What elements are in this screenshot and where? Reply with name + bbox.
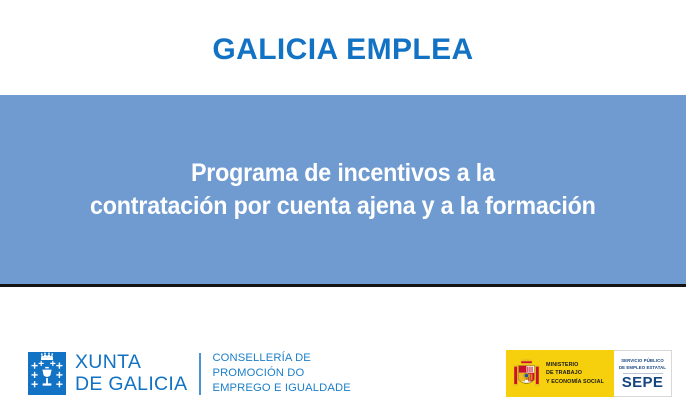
ministerio-text: MINISTERIO DE TRABAJO Y ECONOMÍA SOCIAL: [546, 361, 604, 385]
banner-text-line-2: contratación por cuenta ajena y a la for…: [90, 190, 596, 223]
conselleria-line-2: PROMOCIÓN DO: [212, 366, 350, 381]
sepe-wordmark: SEPE: [622, 375, 664, 390]
ministerio-logo: MINISTERIO DE TRABAJO Y ECONOMÍA SOCIAL: [506, 350, 614, 397]
title-zone: GALICIA EMPLEA: [0, 0, 686, 95]
xunta-wordmark-line-2: DE GALICIA: [75, 374, 187, 396]
sepe-subtitle: SERVICIO PÚBLICO DE EMPLEO ESTATAL: [619, 358, 666, 370]
xunta-wordmark: XUNTA DE GALICIA: [75, 352, 187, 396]
sepe-logo: SERVICIO PÚBLICO DE EMPLEO ESTATAL SEPE: [614, 350, 672, 397]
ministry-sepe-logos: MINISTERIO DE TRABAJO Y ECONOMÍA SOCIAL …: [506, 350, 672, 397]
program-banner: Programa de incentivos a la contratación…: [0, 95, 686, 284]
ministerio-line-2: DE TRABAJO: [546, 369, 604, 377]
conselleria-line-1: CONSELLERÍA DE: [212, 351, 350, 366]
sepe-subtitle-line-1: SERVICIO PÚBLICO: [619, 358, 666, 364]
banner-text-line-1: Programa de incentivos a la: [90, 157, 596, 190]
banner-text: Programa de incentivos a la contratación…: [90, 157, 596, 223]
footer: XUNTA DE GALICIA CONSELLERÍA DE PROMOCIÓ…: [0, 287, 686, 410]
page-title: GALICIA EMPLEA: [212, 31, 473, 65]
xunta-wordmark-line-1: XUNTA: [75, 352, 187, 374]
ministerio-line-3: Y ECONOMÍA SOCIAL: [546, 378, 604, 386]
spain-coat-of-arms-icon: [513, 357, 540, 390]
ministerio-line-1: MINISTERIO: [546, 361, 604, 369]
conselleria-line-3: EMPREGO E IGUALDADE: [212, 381, 350, 396]
sepe-subtitle-line-2: DE EMPLEO ESTATAL: [619, 365, 666, 371]
xunta-de-galicia-logo: XUNTA DE GALICIA CONSELLERÍA DE PROMOCIÓ…: [28, 351, 351, 397]
galicia-coat-of-arms-icon: [28, 352, 66, 395]
logo-divider: [199, 353, 201, 395]
conselleria-name: CONSELLERÍA DE PROMOCIÓN DO EMPREGO E IG…: [212, 351, 350, 397]
